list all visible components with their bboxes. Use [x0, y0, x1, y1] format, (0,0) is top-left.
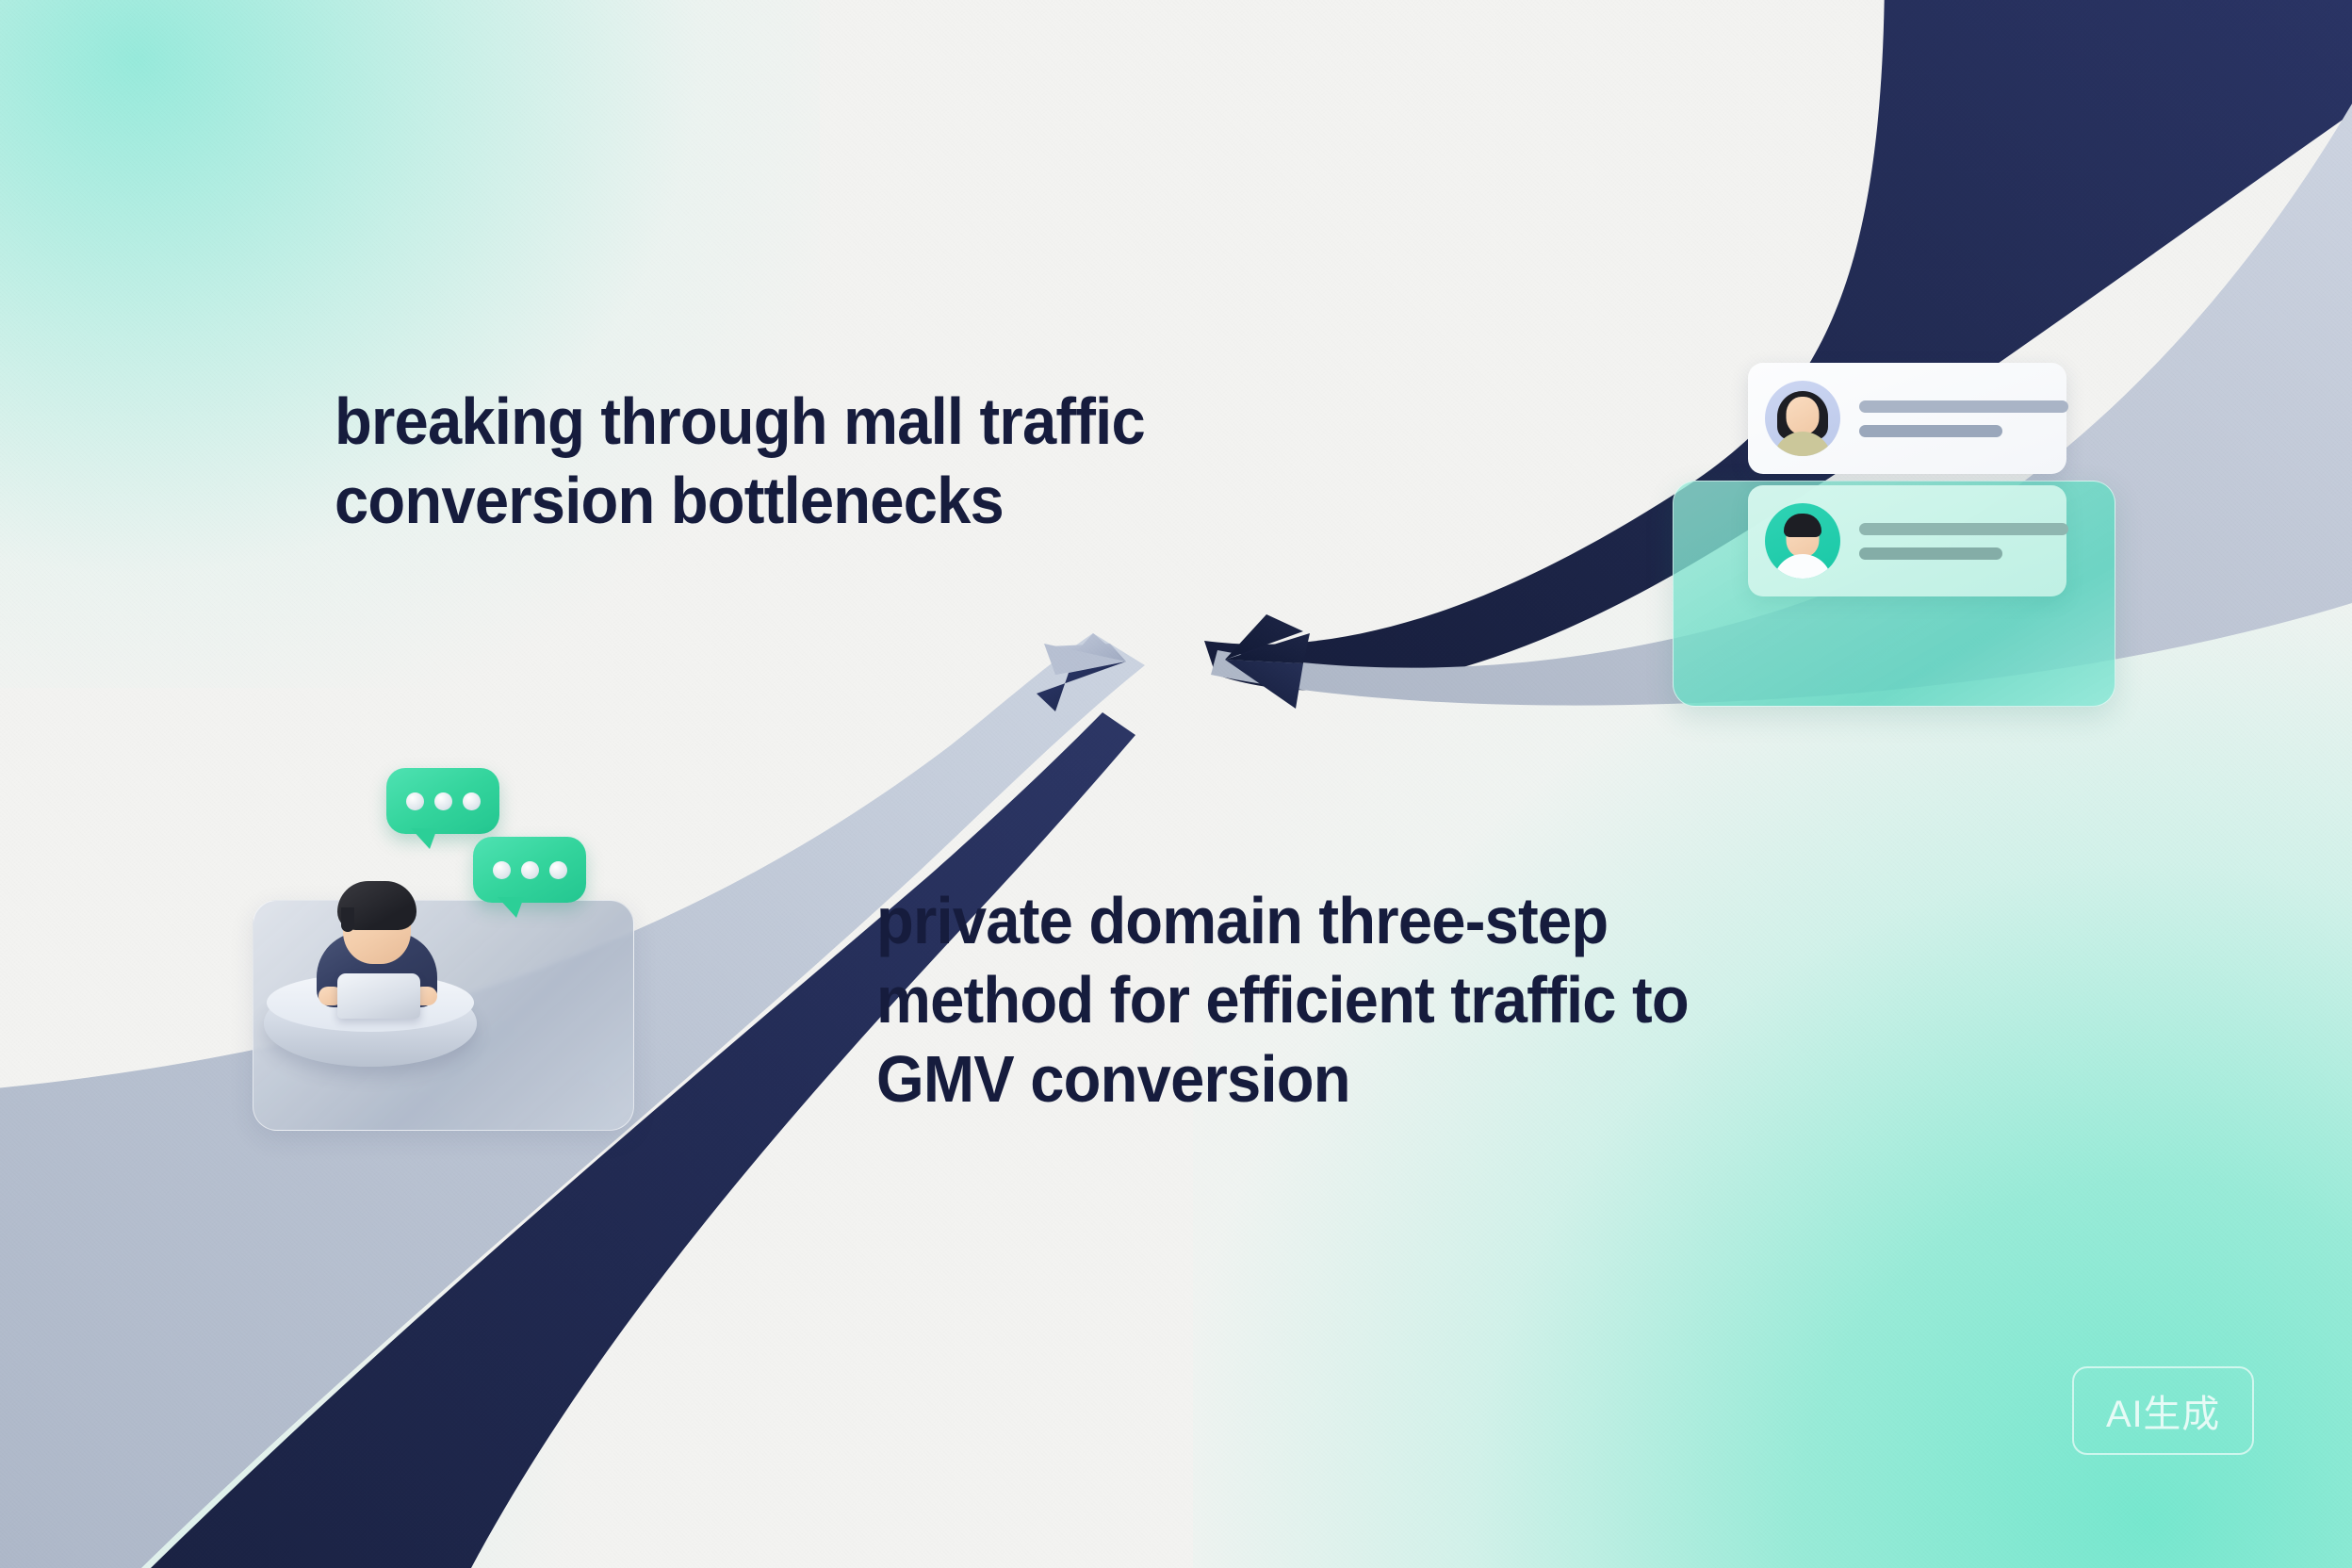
bubble-dot — [406, 792, 424, 810]
female-avatar — [1765, 381, 1840, 456]
poster-canvas: breaking through mall traffic conversion… — [0, 0, 2352, 1568]
bubble-dot — [521, 861, 539, 879]
avatar-face — [1787, 397, 1820, 434]
card-text-lines — [1859, 523, 2068, 560]
bubble-dot — [549, 861, 567, 879]
ai-generated-watermark: AI生成 — [2072, 1366, 2254, 1455]
person-hair — [337, 881, 416, 930]
card-text-lines — [1859, 400, 2068, 437]
headline-top: breaking through mall traffic conversion… — [335, 382, 1145, 540]
avatar-shoulders — [1773, 554, 1832, 579]
swoosh-graphics — [0, 0, 2352, 1568]
laptop-icon — [337, 973, 420, 1019]
card-line-secondary — [1859, 425, 2002, 437]
chat-bubble-lower-icon — [473, 837, 586, 903]
card-line-primary — [1859, 523, 2068, 535]
avatar-hair — [1784, 514, 1821, 537]
chat-bubble-upper-icon — [386, 768, 499, 834]
bubble-dot — [434, 792, 452, 810]
bubble-dot — [463, 792, 481, 810]
headline-bottom: private domain three-step method for eff… — [876, 881, 1689, 1119]
card-line-primary — [1859, 400, 2068, 413]
arrow-pointing-left — [1225, 614, 1310, 709]
contact-card-white — [1748, 363, 2066, 474]
card-line-secondary — [1859, 547, 2002, 560]
person-at-laptop-icon — [302, 862, 452, 1022]
bubble-dot — [493, 861, 511, 879]
contact-card-mint — [1748, 485, 2066, 596]
male-avatar — [1765, 503, 1840, 579]
